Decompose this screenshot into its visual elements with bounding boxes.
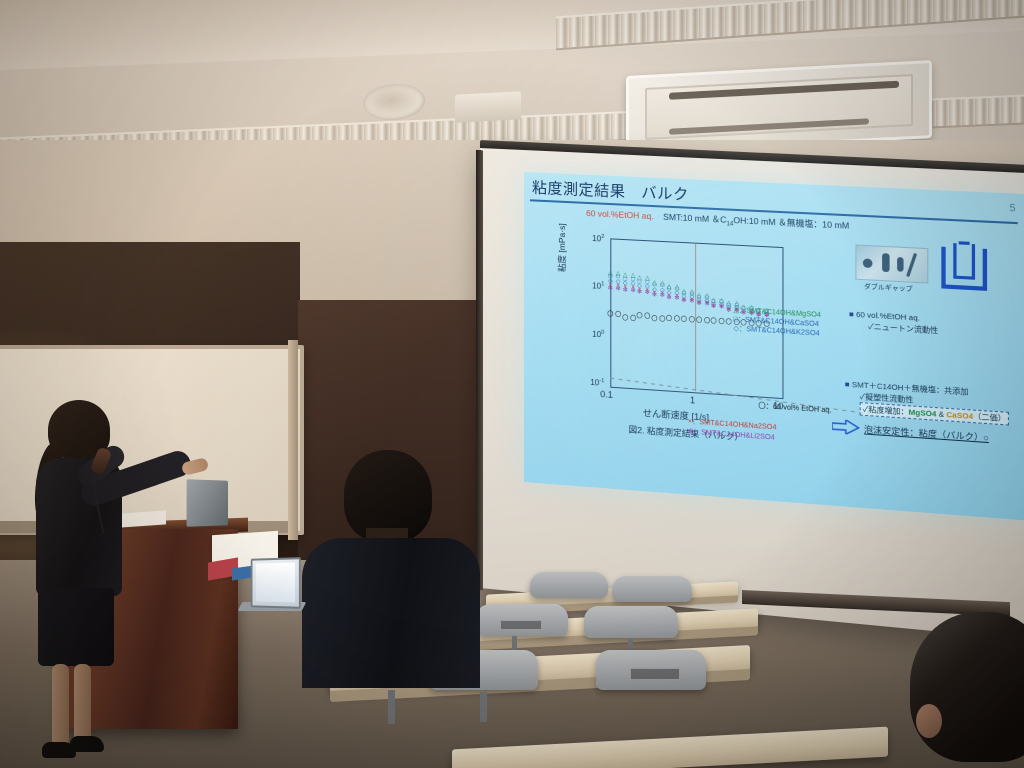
chart-marker: 〇 <box>615 313 621 319</box>
bullet-marker: ■ <box>845 379 850 389</box>
viscosity-chart: 102 101 100 10-1 0.1 1 10 粘度 [mPa·s] せん断… <box>590 233 802 417</box>
probe-icon <box>906 253 917 277</box>
slide-subtitle: 60 vol.%EtOH aq. SMT:10 mM ＆C14OH:10 mM … <box>586 207 849 234</box>
double-gap-photo <box>855 244 928 283</box>
right-arrow-icon <box>832 419 860 435</box>
rotor-icon <box>863 258 873 268</box>
podium-sign-text <box>220 549 274 556</box>
chart-marker: ✻ <box>616 286 621 292</box>
highlight-mgso4: MgSO4 <box>909 407 937 418</box>
chart-marker: ✻ <box>674 295 679 301</box>
chart-marker: 〇 <box>651 316 657 322</box>
chart-legend-baseline: 〇：60 vol% EtOH aq. <box>758 401 831 416</box>
chart-marker: 〇 <box>630 316 636 322</box>
attendee-ear <box>916 704 942 738</box>
cup-icon <box>897 257 903 272</box>
ceiling-vent-icon <box>455 91 521 122</box>
x-axis-tick: 1 <box>690 395 695 406</box>
x-axis-tick: 0.1 <box>600 389 613 400</box>
chart-marker: ✻ <box>689 298 694 304</box>
chart-marker: 〇 <box>636 313 642 319</box>
chart-marker: 〇 <box>659 317 665 323</box>
attendee-seated <box>296 450 482 690</box>
chart-marker: 〇 <box>674 317 680 323</box>
presenter-shoe <box>70 736 104 752</box>
chair-leg <box>480 692 487 722</box>
chart-marker: 〇 <box>622 316 628 322</box>
chart-legend-top: △：SMT&C14OH&MgSO4 □：SMT&C14OH&CaSO4 ◇：SM… <box>733 306 821 339</box>
double-gap-caption: ダブルギャップ <box>864 280 913 293</box>
chart-marker: ✻ <box>608 285 613 291</box>
legend-label: ：60 vol% EtOH aq. <box>766 403 832 415</box>
slide-bullet-1: ■ 60 vol.%EtOH aq. ✓ニュートン流動性 <box>849 308 938 336</box>
chair <box>584 606 678 638</box>
chart-marker: 〇 <box>718 319 724 325</box>
chair <box>530 572 608 598</box>
highlight-prefix: ✓粘度増加： <box>863 404 909 416</box>
chart-marker: ✻ <box>645 290 650 296</box>
presenter <box>22 398 142 768</box>
y-axis-tick: 102 <box>576 233 604 244</box>
chart-marker: 〇 <box>710 319 716 325</box>
highlight-amp: & <box>936 409 946 419</box>
attendee-suit-jacket <box>302 538 480 688</box>
chart-marker: 〇 <box>607 312 613 318</box>
chair <box>612 576 692 602</box>
chart-marker: ✻ <box>637 289 642 295</box>
presentation-slide: 粘度測定結果 バルク 5 60 vol.%EtOH aq. SMT:10 mM … <box>524 172 1024 520</box>
slide-bullet-2: ■ SMT＋C14OH＋無機塩：共添加 ✓擬塑性流動性 ✓粘度増加：MgSO4 … <box>845 378 1010 425</box>
lecture-room-photo: 粘度測定結果 バルク 5 60 vol.%EtOH aq. SMT:10 mM … <box>0 0 1024 768</box>
chart-marker: 〇 <box>704 319 710 325</box>
chart-marker: 〇 <box>726 320 732 326</box>
chart-marker: ✻ <box>623 287 628 293</box>
attendee-head <box>910 612 1024 762</box>
presenter-skirt <box>38 588 114 666</box>
subtitle-rest2: OH:10 mM ＆無機塩：10 mM <box>733 215 849 231</box>
slide-number: 5 <box>1009 203 1015 215</box>
y-axis-tick: 10-1 <box>576 376 604 388</box>
chart-marker: 〇 <box>689 318 695 324</box>
chart-marker: ✻ <box>660 292 665 298</box>
chart-marker: ✻ <box>681 298 686 304</box>
presenter-laptop <box>187 479 228 527</box>
chart-marker: ✻ <box>704 301 709 307</box>
bullet-sub-text: ✓ニュートン流動性 <box>849 320 938 337</box>
highlight-suffix: （二価） <box>973 412 1006 424</box>
chart-marker: ✻ <box>631 288 636 294</box>
chart-marker: ✻ <box>696 301 701 307</box>
chair-leg <box>388 690 395 724</box>
chair-label <box>500 620 542 630</box>
chart-marker: ✻ <box>652 292 657 298</box>
attendee-laptop-screen <box>256 562 295 602</box>
chart-marker: 〇 <box>696 318 702 324</box>
attendee-foreground <box>900 612 1024 768</box>
chart-vertical-marker <box>695 243 696 392</box>
attendee-laptop <box>251 557 301 609</box>
chart-marker: 〇 <box>681 317 687 323</box>
y-axis-tick: 101 <box>576 280 604 291</box>
air-conditioner-panel <box>645 74 913 140</box>
presenter-leg <box>74 664 91 742</box>
subtitle-highlight: 60 vol.%EtOH aq. <box>586 208 654 221</box>
chart-marker: ✻ <box>666 295 671 301</box>
air-conditioner-vent <box>669 118 869 134</box>
chart-marker: 〇 <box>666 316 672 322</box>
chair-label <box>630 668 680 680</box>
slide-conclusion: 泡沫安定性：粘度（バルク）○ <box>864 423 989 444</box>
chart-marker: ✻ <box>711 304 716 310</box>
y-axis-tick: 100 <box>576 328 604 339</box>
bullet-marker: ■ <box>849 309 854 319</box>
y-axis-label: 粘度 [mPa·s] <box>556 223 568 272</box>
chart-marker: ✻ <box>726 307 731 313</box>
chart-marker: ✻ <box>719 305 724 311</box>
legend-symbol-circle: 〇 <box>758 403 765 411</box>
chart-marker: 〇 <box>644 314 650 320</box>
double-gap-schematic-icon <box>939 240 991 293</box>
air-conditioner-vent <box>669 81 899 100</box>
presenter-leg <box>52 664 69 746</box>
subtitle-subscript: 14 <box>726 221 733 227</box>
highlight-caso4: CaSO4 <box>946 410 973 421</box>
spindle-icon <box>882 253 890 272</box>
subtitle-rest: SMT:10 mM ＆C <box>663 212 726 225</box>
